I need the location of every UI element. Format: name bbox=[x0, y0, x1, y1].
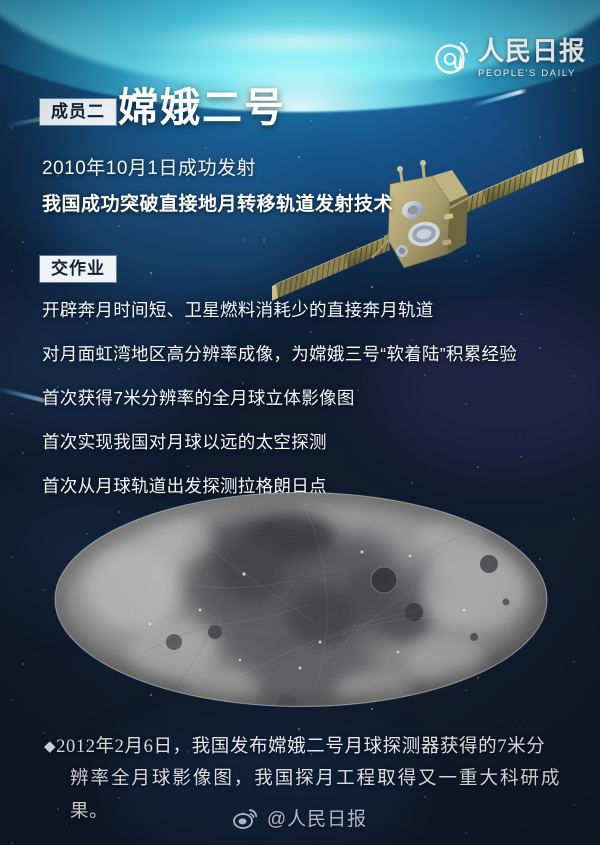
list-item: 首次实现我国对月球以远的太空探测 bbox=[42, 429, 587, 454]
brand-name-cn: 人民日报 bbox=[478, 38, 586, 64]
member-badge: 成员二 bbox=[40, 99, 116, 125]
page-title: 嫦娥二号 bbox=[118, 88, 286, 128]
weibo-icon bbox=[233, 807, 259, 829]
at-sign-icon bbox=[433, 39, 473, 79]
footer-watermark: @人民日报 bbox=[0, 804, 600, 831]
moon-map-image bbox=[54, 492, 548, 707]
list-item: 首次获得7米分辨率的全月球立体影像图 bbox=[42, 385, 587, 410]
launch-date-text: 2010年10月1日成功发射 bbox=[42, 153, 256, 180]
homework-badge: 交作业 bbox=[40, 256, 116, 282]
list-item: 开辟奔月时间短、卫星燃料消耗少的直接奔月轨道 bbox=[42, 297, 587, 322]
achievement-list: 开辟奔月时间短、卫星燃料消耗少的直接奔月轨道 对月面虹湾地区高分辨率成像，为嫦娥… bbox=[42, 297, 587, 517]
brand-name-en: PEOPLE'S DAILY bbox=[478, 69, 576, 79]
breakthrough-text: 我国成功突破直接地月转移轨道发射技术 bbox=[42, 189, 393, 216]
limb-hotspot bbox=[120, 24, 480, 60]
weibo-handle: @人民日报 bbox=[267, 804, 367, 831]
satellite-illustration bbox=[272, 118, 600, 318]
list-item: 对月面虹湾地区高分辨率成像，为嫦娥三号“软着陆”积累经验 bbox=[42, 341, 587, 366]
poster-root: 人民日报 PEOPLE'S DAILY bbox=[0, 0, 600, 845]
bullet-diamond-icon: ◆ bbox=[44, 739, 56, 755]
peoples-daily-logo: 人民日报 PEOPLE'S DAILY bbox=[433, 38, 586, 79]
caption-line-1: 2012年2月6日，我国发布嫦娥二号月球探测器获得的7米分 bbox=[56, 737, 545, 757]
